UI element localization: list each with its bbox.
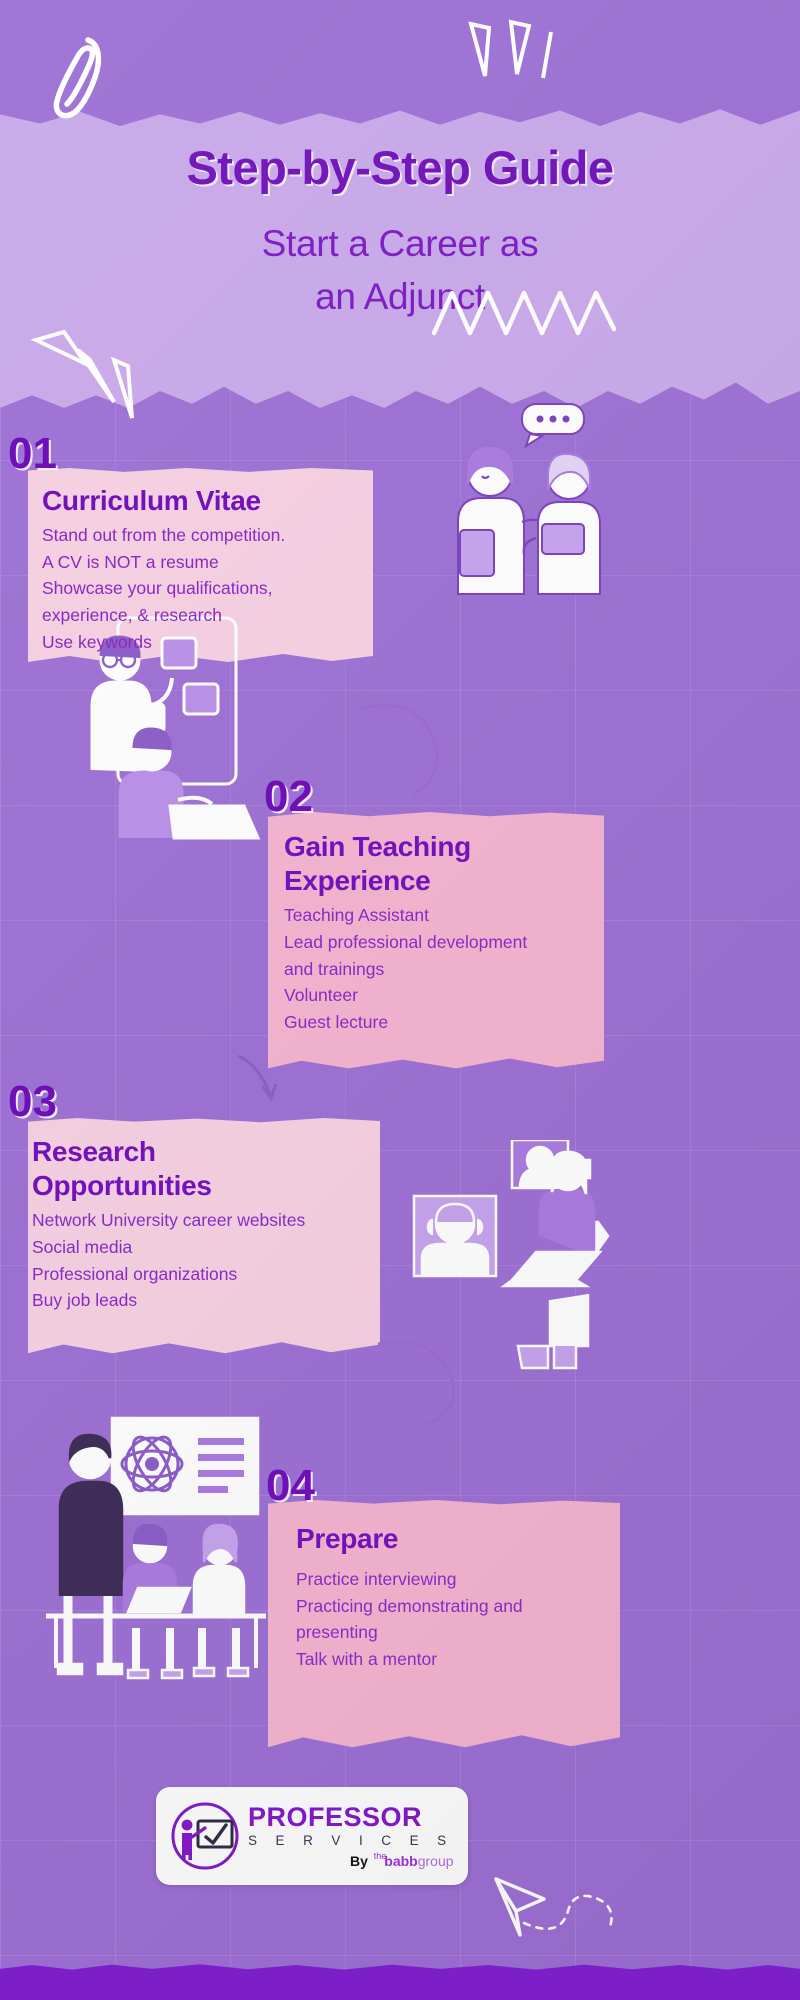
- footer-bar: [0, 1962, 800, 2000]
- step-number-01: 01: [8, 432, 57, 476]
- subtitle-line-1: Start a Career as: [0, 218, 800, 271]
- byline-the: the: [374, 1851, 387, 1861]
- step-line: Social media: [32, 1234, 382, 1261]
- step-line: Buy job leads: [32, 1287, 382, 1314]
- brand-primary-text: PROFESSOR: [248, 1804, 454, 1831]
- curved-arrow-icon: [370, 1330, 480, 1430]
- step-content-01: Curriculum Vitae Stand out from the comp…: [42, 484, 372, 655]
- step-body-02: Teaching Assistant Lead professional dev…: [284, 902, 604, 1035]
- step-line: Practicing demonstrating and: [296, 1593, 626, 1620]
- step-content-02: Gain Teaching Experience Teaching Assist…: [284, 830, 604, 1035]
- step-number-04: 04: [266, 1464, 315, 1508]
- step-line: Lead professional development: [284, 929, 604, 956]
- step-line: Teaching Assistant: [284, 902, 604, 929]
- step-number-02: 02: [264, 775, 313, 819]
- step-line: Practice interviewing: [296, 1566, 626, 1593]
- step-body-03: Network University career websites Socia…: [32, 1207, 382, 1313]
- step-number-03: 03: [8, 1080, 57, 1124]
- step-title-01: Curriculum Vitae: [42, 484, 372, 518]
- step-body-04: Practice interviewing Practicing demonst…: [296, 1566, 626, 1672]
- card-paper-04-torn-bottom: [268, 1700, 620, 1755]
- step-line: Professional organizations: [32, 1261, 382, 1288]
- step-line: Volunteer: [284, 982, 604, 1009]
- paper-plane-outline-icon: [490, 1865, 620, 1975]
- byline-group: group: [418, 1853, 454, 1869]
- header-top-torn-strip: [0, 0, 800, 130]
- brand-byline: By thebabbgroup: [248, 1854, 454, 1868]
- subtitle-line-2: an Adjunct: [0, 271, 800, 324]
- curved-arrow-icon: [355, 690, 465, 800]
- video-call-laptop-illustration: [400, 1140, 610, 1375]
- teacher-whiteboard-icon: [170, 1801, 240, 1871]
- step-line: presenting: [296, 1619, 626, 1646]
- step-line: Talk with a mentor: [296, 1646, 626, 1673]
- page-title: Step-by-Step Guide: [0, 140, 800, 195]
- step-line: Guest lecture: [284, 1009, 604, 1036]
- step-line: A CV is NOT a resume: [42, 549, 372, 576]
- step-line: Use keywords: [42, 629, 372, 656]
- step-title-02: Gain Teaching Experience: [284, 830, 604, 898]
- step-card-04-bottom: [268, 1700, 620, 1755]
- step-title-04: Prepare: [296, 1522, 626, 1556]
- page-subtitle: Start a Career as an Adjunct: [0, 218, 800, 323]
- brand-logo-card[interactable]: PROFESSOR S E R V I C E S By thebabbgrou…: [156, 1787, 468, 1885]
- step-card-03-bottom: [28, 1306, 380, 1361]
- byline-babb: babb: [384, 1853, 417, 1869]
- infographic-poster: Step-by-Step Guide Start a Career as an …: [0, 0, 800, 2000]
- step-line: Network University career websites: [32, 1207, 382, 1234]
- step-content-03: ResearchOpportunities Network University…: [32, 1135, 382, 1314]
- step-line: experience, & research: [42, 602, 372, 629]
- step-body-01: Stand out from the competition. A CV is …: [42, 522, 372, 655]
- step-title-03: ResearchOpportunities: [32, 1135, 382, 1203]
- step-content-04: Prepare Practice interviewing Practicing…: [296, 1522, 626, 1673]
- dashed-trail-icon: [524, 1896, 612, 1929]
- step-line: Stand out from the competition.: [42, 522, 372, 549]
- classroom-lecture-illustration: [30, 1400, 280, 1680]
- brand-secondary-text: S E R V I C E S: [248, 1834, 454, 1848]
- brand-text: PROFESSOR S E R V I C E S By thebabbgrou…: [248, 1804, 454, 1869]
- card-paper-03-torn-bottom: [28, 1306, 380, 1361]
- two-women-talking-illustration: [430, 398, 610, 598]
- step-line: Showcase your qualifications,: [42, 575, 372, 602]
- byline-by: By: [350, 1853, 368, 1869]
- step-line: and trainings: [284, 956, 604, 983]
